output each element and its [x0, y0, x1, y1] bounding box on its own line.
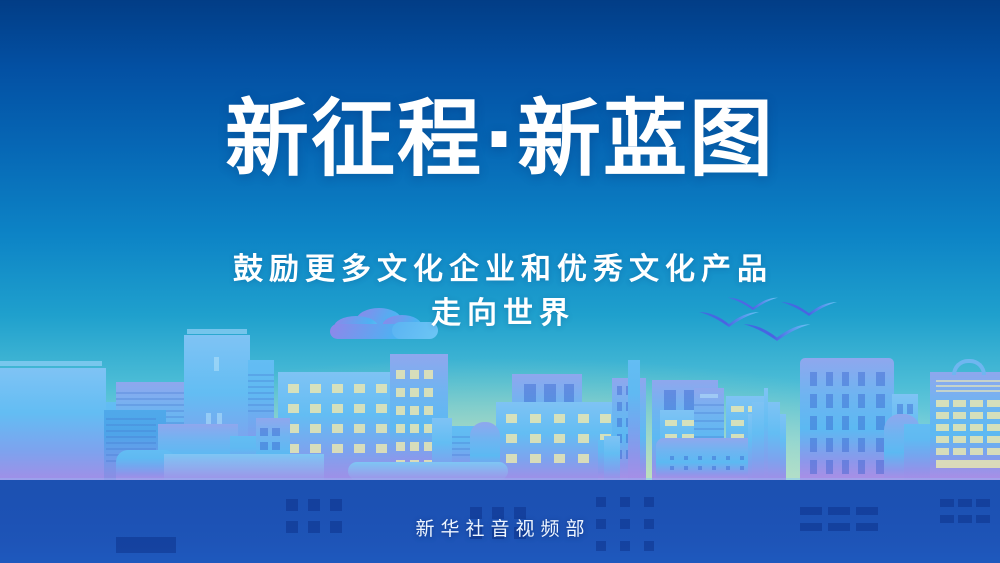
page-title: 新征程·新蓝图: [0, 97, 1000, 181]
building-arch-crown: [952, 359, 986, 375]
building: [0, 368, 106, 480]
subtitle-block: 鼓励更多文化企业和优秀文化产品 走向世界: [0, 248, 1000, 336]
building: [604, 436, 620, 480]
building: [164, 454, 324, 480]
credit-label: 新华社音视频部: [0, 514, 1000, 541]
subtitle-line-1: 鼓励更多文化企业和优秀文化产品: [0, 248, 1000, 292]
building: [930, 372, 1000, 480]
building: [628, 360, 640, 480]
building: [800, 358, 894, 480]
poster-canvas: 新征程·新蓝图 鼓励更多文化企业和优秀文化产品 走向世界 新华社音视频部: [0, 0, 1000, 563]
subtitle-line-2: 走向世界: [0, 292, 1000, 336]
building: [764, 388, 768, 480]
